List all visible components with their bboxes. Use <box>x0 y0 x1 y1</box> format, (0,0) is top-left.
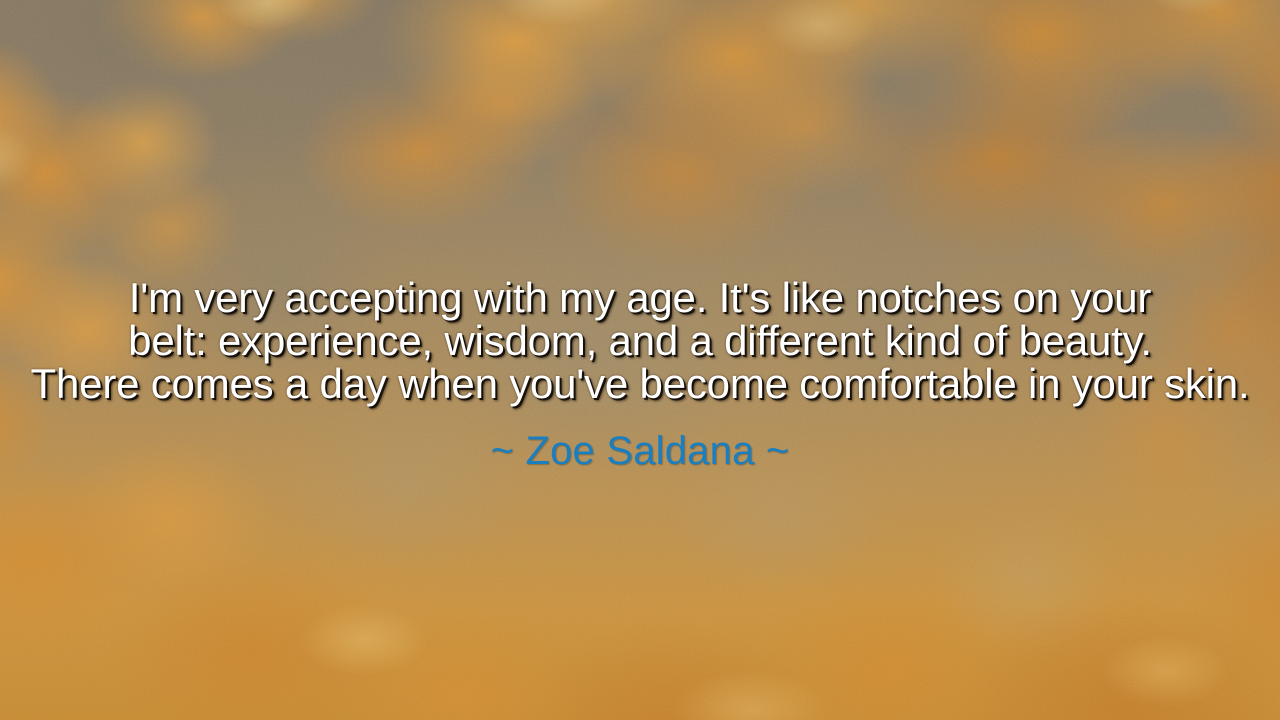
sky-background <box>0 0 1280 720</box>
quote-image-canvas: I'm very accepting with my age. It's lik… <box>0 0 1280 720</box>
